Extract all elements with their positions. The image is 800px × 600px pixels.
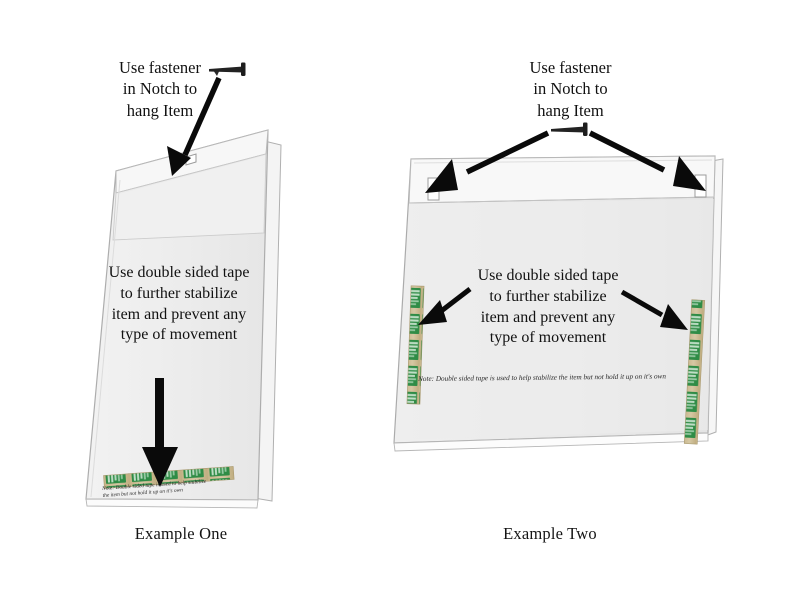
frame-one-bottom-edge [86,499,258,508]
fastener-icon-example-two [551,123,588,137]
example-label-one: Example One [72,524,290,544]
instruction-diagram-canvas: Use fastener in Notch to hang Item Use d… [0,0,800,600]
tape-callout-example-two: Use double sided tape to further stabili… [462,266,634,349]
fastener-callout-example-one: Use fastener in Notch to hang Item [100,57,220,121]
example-label-two: Example Two [440,524,660,544]
fastener-callout-example-two: Use fastener in Notch to hang Item [508,57,633,121]
tape-callout-example-one: Use double sided tape to further stabili… [95,263,263,346]
